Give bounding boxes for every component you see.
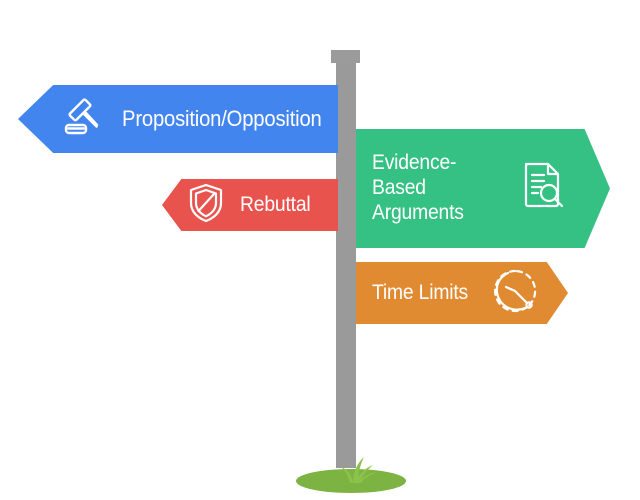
sign-evidence-label: Evidence-Based Arguments [372,151,508,225]
signpost-infographic: Proposition/Opposition Rebuttal Evidence… [0,0,640,500]
sign-proposition-label: Proposition/Opposition [122,106,322,132]
sign-proposition-opposition[interactable]: Proposition/Opposition [18,85,338,153]
stopwatch-icon [492,268,538,319]
signpost-cap [331,50,360,63]
sign-time-limits[interactable]: Time Limits [356,262,568,324]
document-search-icon [520,160,566,217]
shield-slash-icon [186,182,226,229]
grass-icon [296,455,406,493]
gavel-icon [60,94,106,145]
sign-rebuttal-label: Rebuttal [240,193,310,218]
sign-time-label: Time Limits [372,281,468,306]
sign-evidence-based-arguments[interactable]: Evidence-Based Arguments [356,129,610,248]
signpost-shaft [336,63,356,468]
grass-base [296,455,406,493]
sign-rebuttal[interactable]: Rebuttal [162,179,338,231]
